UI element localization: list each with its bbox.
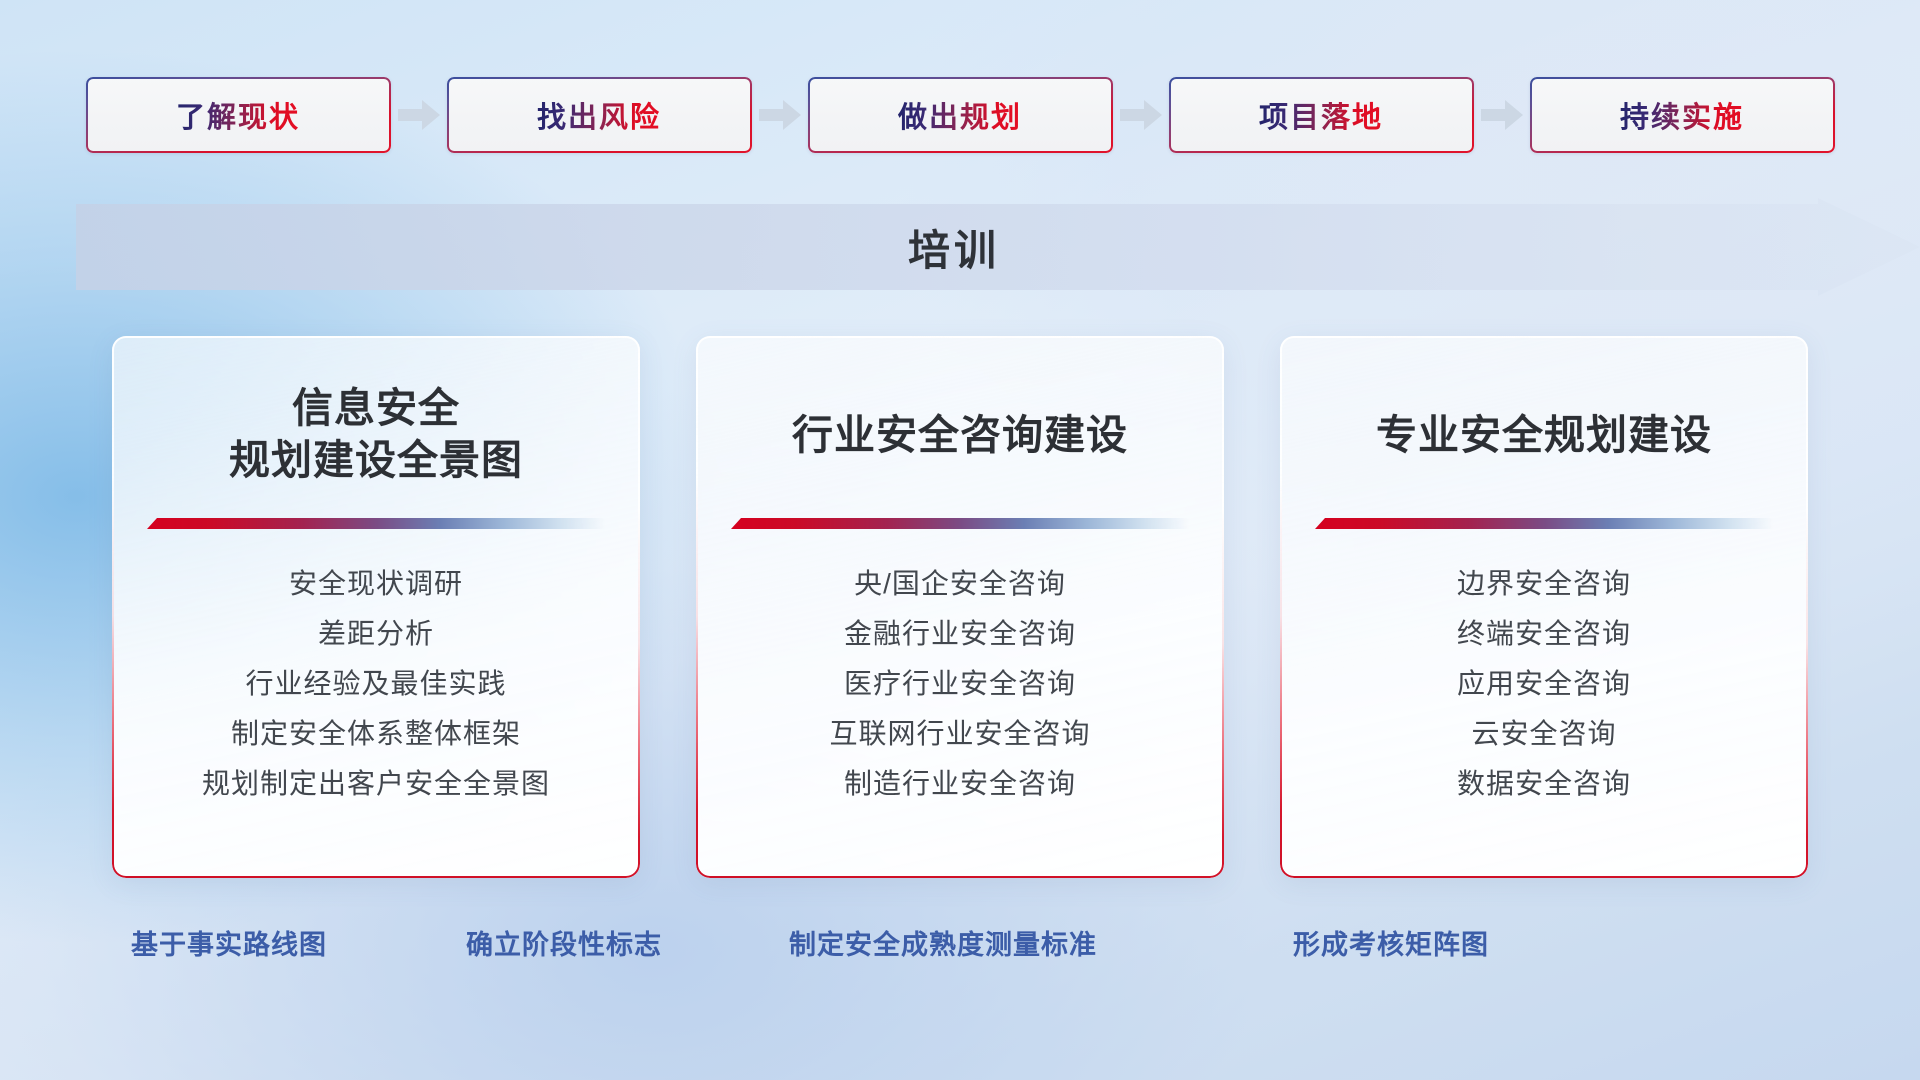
step-label-4: 项目落地 (1259, 94, 1383, 136)
step-arrow-icon-3 (1113, 76, 1169, 154)
caption-matrix: 形成考核矩阵图 (1293, 912, 1489, 972)
card-title-3: 专业安全规划建设 (1376, 382, 1712, 488)
step-box-2[interactable]: 找出风险 (447, 77, 752, 153)
step-box-5[interactable]: 持续实施 (1530, 77, 1835, 153)
step-arrow-icon-4 (1474, 76, 1530, 154)
card-divider-3 (1315, 518, 1773, 529)
list-item: 金融行业安全咨询 (722, 609, 1198, 659)
card-list-1: 安全现状调研 差距分析 行业经验及最佳实践 制定安全体系整体框架 规划制定出客户… (138, 559, 614, 809)
caption-row: 基于事实路线图 确立阶段性标志 制定安全成熟度测量标准 形成考核矩阵图 (0, 912, 1920, 972)
step-wrap-4: 持续实施 (1530, 77, 1835, 153)
card-industry-security-consulting[interactable]: 行业安全咨询建设 央/国企安全咨询 金融行业安全咨询 医疗行业安全咨询 互联网行… (696, 336, 1224, 878)
list-item: 制定安全体系整体框架 (138, 709, 614, 759)
card-information-security-blueprint[interactable]: 信息安全 规划建设全景图 安全现状调研 差距分析 行业经验及最佳实践 制定安全体… (112, 336, 640, 878)
process-step-row: 了解现状 找出风险 做出规划 项目落地 (0, 76, 1920, 154)
list-item: 规划制定出客户安全全景图 (138, 759, 614, 809)
list-item: 制造行业安全咨询 (722, 759, 1198, 809)
step-wrap-0: 了解现状 (86, 76, 447, 154)
caption-roadmap: 基于事实路线图 (131, 912, 327, 972)
list-item: 央/国企安全咨询 (722, 559, 1198, 609)
list-item: 互联网行业安全咨询 (722, 709, 1198, 759)
list-item: 数据安全咨询 (1306, 759, 1782, 809)
step-arrow-icon-1 (391, 76, 447, 154)
card-title-2: 行业安全咨询建设 (792, 382, 1128, 488)
step-label-2: 找出风险 (537, 94, 661, 136)
card-list-3: 边界安全咨询 终端安全咨询 应用安全咨询 云安全咨询 数据安全咨询 (1306, 559, 1782, 809)
list-item: 行业经验及最佳实践 (138, 659, 614, 709)
card-divider-1 (147, 518, 605, 529)
list-item: 差距分析 (138, 609, 614, 659)
card-list-2: 央/国企安全咨询 金融行业安全咨询 医疗行业安全咨询 互联网行业安全咨询 制造行… (722, 559, 1198, 809)
list-item: 云安全咨询 (1306, 709, 1782, 759)
step-label-1: 了解现状 (176, 94, 300, 136)
card-title-1: 信息安全 规划建设全景图 (229, 382, 523, 488)
list-item: 安全现状调研 (138, 559, 614, 609)
list-item: 边界安全咨询 (1306, 559, 1782, 609)
step-label-5: 持续实施 (1620, 94, 1744, 136)
step-wrap-1: 找出风险 (447, 76, 808, 154)
list-item: 医疗行业安全咨询 (722, 659, 1198, 709)
caption-maturity-model: 制定安全成熟度测量标准 (789, 912, 1097, 972)
step-box-3[interactable]: 做出规划 (808, 77, 1113, 153)
training-banner-label: 培训 (76, 198, 1832, 296)
step-arrow-icon-2 (752, 76, 808, 154)
list-item: 终端安全咨询 (1306, 609, 1782, 659)
card-row: 信息安全 规划建设全景图 安全现状调研 差距分析 行业经验及最佳实践 制定安全体… (0, 336, 1920, 878)
list-item: 应用安全咨询 (1306, 659, 1782, 709)
step-wrap-2: 做出规划 (808, 76, 1169, 154)
step-label-3: 做出规划 (898, 94, 1022, 136)
caption-milestones: 确立阶段性标志 (466, 912, 662, 972)
step-box-4[interactable]: 项目落地 (1169, 77, 1474, 153)
card-divider-2 (731, 518, 1189, 529)
step-wrap-3: 项目落地 (1169, 76, 1530, 154)
card-professional-security-planning[interactable]: 专业安全规划建设 边界安全咨询 终端安全咨询 应用安全咨询 云安全咨询 数据安全… (1280, 336, 1808, 878)
step-box-1[interactable]: 了解现状 (86, 77, 391, 153)
training-banner: 培训 (76, 198, 1920, 296)
